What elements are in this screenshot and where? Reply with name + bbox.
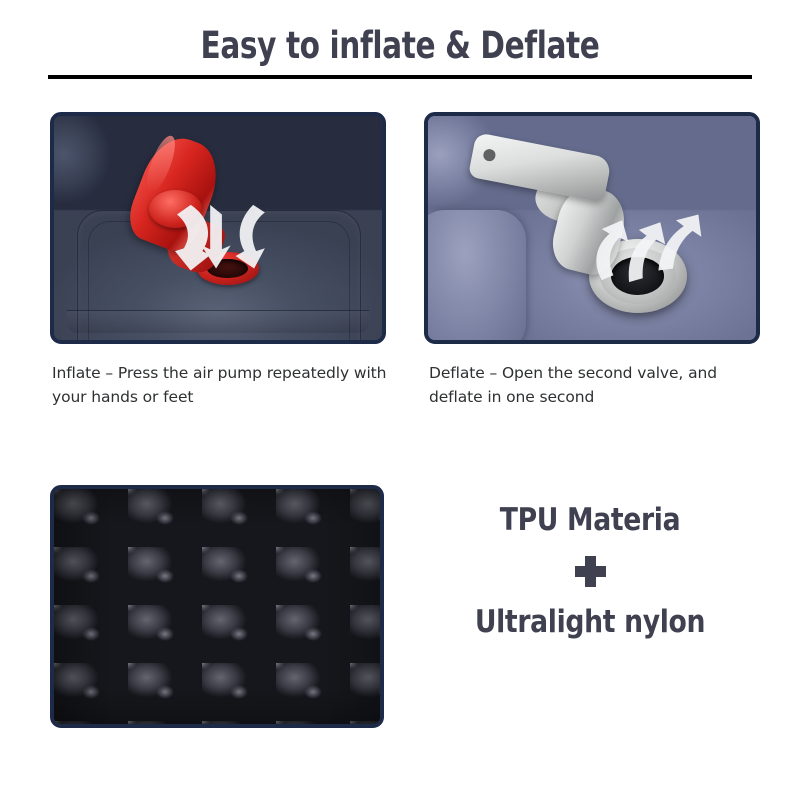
title-divider	[48, 75, 752, 79]
red-valve-knob	[149, 190, 201, 228]
texture-vignette	[54, 489, 380, 724]
material-texture-image	[54, 489, 380, 724]
inflate-photo	[50, 112, 386, 344]
plus-symbol-wrap	[410, 540, 770, 602]
material-callout: TPU Materia Ultralight nylon	[410, 500, 770, 642]
deflate-caption: Deflate – Open the second valve, and def…	[429, 361, 769, 409]
material-line-primary: TPU Materia	[435, 500, 745, 540]
light-pad-baffle	[428, 210, 526, 340]
header: Easy to inflate & Deflate	[0, 0, 800, 92]
page-title: Easy to inflate & Deflate	[80, 24, 720, 68]
plus-icon	[575, 556, 606, 587]
dark-pad-bottom-seam	[67, 310, 369, 333]
material-line-secondary: Ultralight nylon	[435, 602, 745, 642]
deflate-photo	[424, 112, 760, 344]
deflate-photo-image	[428, 116, 756, 340]
inflate-caption: Inflate – Press the air pump repeatedly …	[52, 361, 402, 409]
inflate-photo-image	[54, 116, 382, 340]
material-texture-photo	[50, 485, 384, 728]
